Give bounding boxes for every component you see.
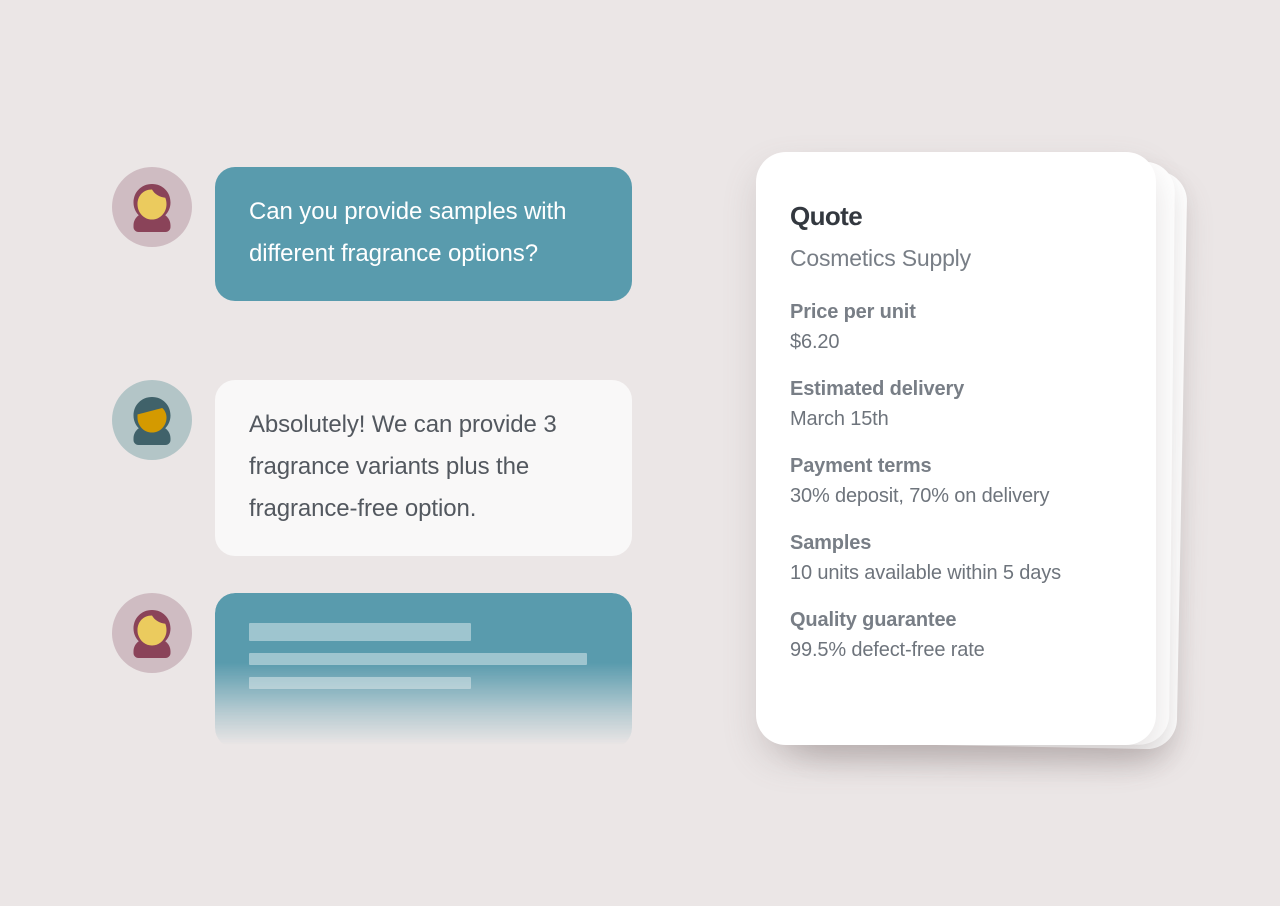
avatar <box>112 380 192 460</box>
skeleton-line <box>249 623 471 641</box>
quote-detail-item: Quality guarantee 99.5% defect-free rate <box>790 607 1122 663</box>
quote-detail-item: Price per unit $6.20 <box>790 299 1122 355</box>
quote-detail-value: March 15th <box>790 406 1122 432</box>
avatar <box>112 593 192 673</box>
person-avatar-icon <box>112 167 192 247</box>
quote-detail-label: Quality guarantee <box>790 607 1122 633</box>
quote-detail-list: Price per unit $6.20 Estimated delivery … <box>790 299 1122 663</box>
quote-detail-value: 10 units available within 5 days <box>790 560 1122 586</box>
chat-message-row: Absolutely! We can provide 3 fragrance v… <box>112 380 632 556</box>
quote-detail-value: 30% deposit, 70% on delivery <box>790 483 1122 509</box>
skeleton-line <box>249 653 587 665</box>
quote-subtitle: Cosmetics Supply <box>790 244 1122 272</box>
chat-bubble-incoming: Absolutely! We can provide 3 fragrance v… <box>215 380 632 556</box>
quote-card-stack: Quote Cosmetics Supply Price per unit $6… <box>756 152 1236 752</box>
chat-bubble-outgoing: Can you provide samples with different f… <box>215 167 632 301</box>
quote-detail-label: Price per unit <box>790 299 1122 325</box>
quote-detail-label: Payment terms <box>790 453 1122 479</box>
quote-detail-label: Estimated delivery <box>790 376 1122 402</box>
quote-detail-label: Samples <box>790 530 1122 556</box>
quote-detail-value: $6.20 <box>790 329 1122 355</box>
person-avatar-icon <box>112 380 192 460</box>
quote-detail-item: Samples 10 units available within 5 days <box>790 530 1122 586</box>
quote-detail-value: 99.5% defect-free rate <box>790 637 1122 663</box>
quote-title: Quote <box>790 201 1122 231</box>
chat-bubble-loading <box>215 593 632 748</box>
quote-card[interactable]: Quote Cosmetics Supply Price per unit $6… <box>756 152 1156 745</box>
chat-message-row <box>112 593 632 748</box>
quote-detail-item: Estimated delivery March 15th <box>790 376 1122 432</box>
quote-detail-item: Payment terms 30% deposit, 70% on delive… <box>790 453 1122 509</box>
chat-message-row: Can you provide samples with different f… <box>112 167 632 301</box>
avatar <box>112 167 192 247</box>
person-avatar-icon <box>112 593 192 673</box>
skeleton-line <box>249 677 471 689</box>
